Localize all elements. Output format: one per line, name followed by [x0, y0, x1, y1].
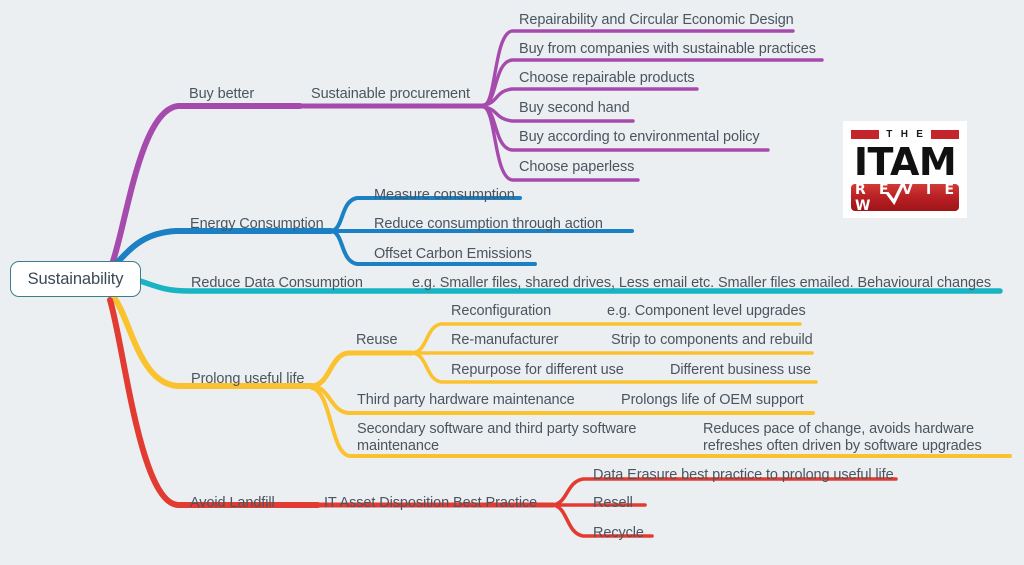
node-label-reuse[interactable]: Reuse [356, 332, 397, 349]
node-label-remanufacturer[interactable]: Re-manufacturer [451, 332, 558, 349]
node-label-choose-repairable[interactable]: Choose repairable products [519, 70, 695, 87]
node-label-secondary-software[interactable]: Secondary software and third party softw… [357, 421, 647, 455]
node-label-buy-second-hand[interactable]: Buy second hand [519, 100, 630, 117]
node-label-avoid-landfill[interactable]: Avoid Landfill [190, 495, 275, 512]
logo-bar-left [851, 130, 879, 139]
root-node-label: Sustainability [28, 270, 124, 289]
branch-trunk-avoid-landfill [110, 300, 318, 505]
node-label-repurpose[interactable]: Repurpose for different use [451, 362, 624, 379]
node-label-repurpose-detail: Different business use [670, 362, 811, 379]
node-label-reconfiguration-detail: e.g. Component level upgrades [607, 303, 806, 320]
node-label-data-erasure[interactable]: Data Erasure best practice to prolong us… [593, 467, 894, 484]
node-label-buy-better[interactable]: Buy better [189, 86, 254, 103]
node-label-recycle[interactable]: Recycle [593, 525, 644, 542]
node-label-reduce-consumption[interactable]: Reduce consumption through action [374, 216, 603, 233]
node-label-third-party-hw-detail: Prolongs life of OEM support [621, 392, 804, 409]
node-label-reduce-data-consumption[interactable]: Reduce Data Consumption [191, 275, 363, 292]
node-label-reduce-data-detail[interactable]: e.g. Smaller files, shared drives, Less … [412, 275, 991, 292]
logo-review-bar: R E V I E W [851, 184, 959, 211]
node-label-remanufacturer-detail: Strip to components and rebuild [611, 332, 813, 349]
root-node[interactable]: Sustainability [10, 261, 141, 297]
logo-the-text: T H E [884, 130, 926, 140]
branch-trunk-energy [112, 231, 331, 268]
node-label-measure-consumption[interactable]: Measure consumption [374, 187, 515, 204]
node-label-third-party-hw[interactable]: Third party hardware maintenance [357, 392, 575, 409]
branch-reuse [312, 353, 412, 386]
node-label-secondary-software-detail: Reduces pace of change, avoids hardware … [703, 421, 993, 455]
node-label-repairability[interactable]: Repairability and Circular Economic Desi… [519, 12, 794, 29]
logo-bar-right [931, 130, 959, 139]
node-label-reconfiguration[interactable]: Reconfiguration [451, 303, 551, 320]
node-label-energy-consumption[interactable]: Energy Consumption [190, 216, 324, 233]
node-label-itad[interactable]: IT Asset Disposition Best Practice [324, 495, 537, 512]
node-label-sustainable-procurement[interactable]: Sustainable procurement [311, 86, 470, 103]
node-label-prolong-useful-life[interactable]: Prolong useful life [191, 371, 304, 388]
itam-review-logo: T H E ITAM R E V I E W [843, 121, 967, 218]
branch-energy-consumption [112, 198, 632, 268]
check-icon [884, 175, 910, 207]
node-label-choose-paperless[interactable]: Choose paperless [519, 159, 634, 176]
node-label-offset-carbon[interactable]: Offset Carbon Emissions [374, 246, 532, 263]
node-label-buy-from-companies[interactable]: Buy from companies with sustainable prac… [519, 41, 816, 58]
node-label-resell[interactable]: Resell [593, 495, 633, 512]
node-label-environmental-policy[interactable]: Buy according to environmental policy [519, 129, 760, 146]
